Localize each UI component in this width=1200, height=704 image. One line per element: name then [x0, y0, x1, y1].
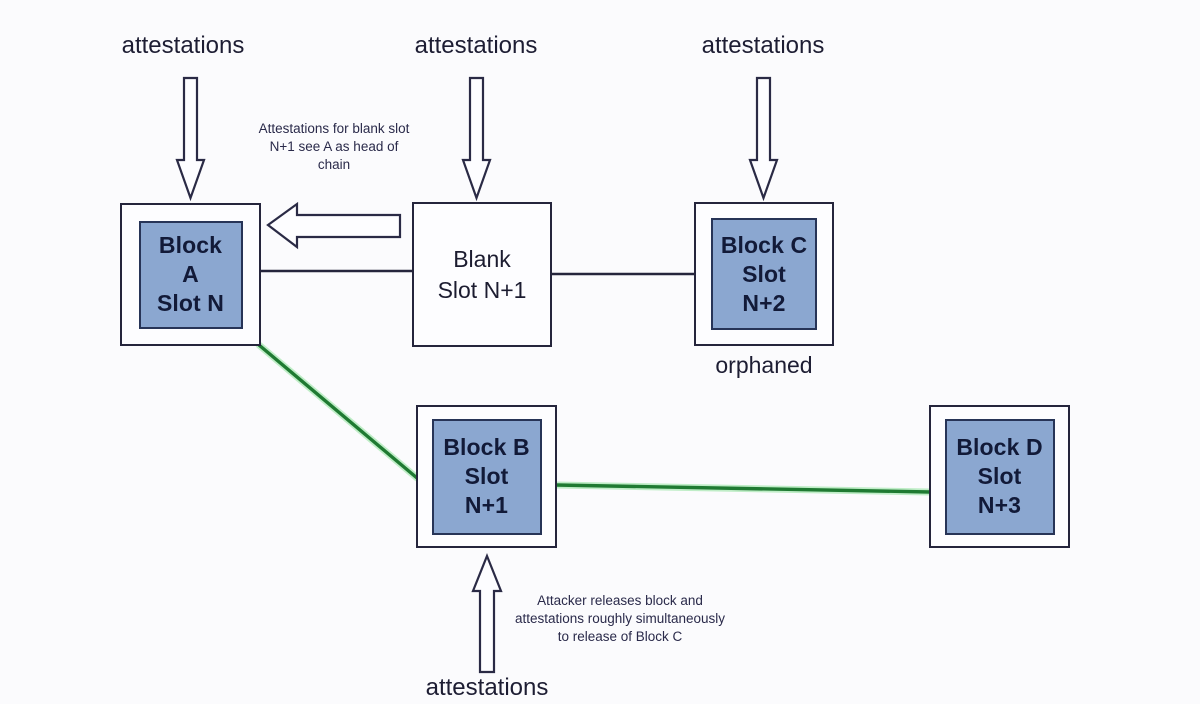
block-d-line-1: Block D [956, 433, 1042, 462]
block-blank-line-1: Blank [438, 244, 527, 275]
block-a-inner: Block A Slot N [139, 221, 243, 329]
block-c-line-3: N+2 [742, 289, 785, 318]
diagram-canvas: Block A Slot N Blank Slot N+1 Block C Sl… [0, 0, 1200, 704]
block-c-inner: Block C Slot N+2 [711, 218, 817, 330]
block-a-line-2: A [182, 260, 199, 289]
block-a-line-1: Block [159, 231, 222, 260]
block-b-line-2: Slot [465, 462, 509, 491]
block-blank-slot-label: Blank Slot N+1 [438, 244, 527, 306]
attestations-label-block-a: attestations [90, 32, 276, 60]
block-b-inner: Block B Slot N+1 [432, 419, 542, 535]
arrow-down-icon [750, 78, 777, 198]
block-b-line-1: Block B [443, 433, 529, 462]
block-b[interactable]: Block B Slot N+1 [416, 405, 557, 548]
attestations-label-block-c: attestations [670, 32, 856, 60]
arrow-down-icon [463, 78, 490, 198]
note-attacker-release: Attacker releases block and attestations… [508, 592, 732, 646]
attestations-label-block-b: attestations [394, 674, 580, 702]
note-blank-slot-head-of-chain: Attestations for blank slot N+1 see A as… [252, 120, 416, 174]
arrow-left-icon [268, 204, 400, 247]
block-b-line-3: N+1 [465, 491, 508, 520]
block-a-line-3: Slot N [157, 289, 224, 318]
block-d-line-2: Slot [978, 462, 1022, 491]
connector-a-to-b [259, 345, 417, 478]
block-blank-line-2: Slot N+1 [438, 275, 527, 306]
arrow-down-icon [177, 78, 204, 198]
block-a[interactable]: Block A Slot N [120, 203, 261, 346]
block-c[interactable]: Block C Slot N+2 [694, 202, 834, 346]
block-c-line-1: Block C [721, 231, 807, 260]
block-blank-slot[interactable]: Blank Slot N+1 [412, 202, 552, 347]
arrow-up-icon [473, 556, 501, 672]
block-d-inner: Block D Slot N+3 [945, 419, 1055, 535]
attestations-label-blank-slot: attestations [383, 32, 569, 60]
block-d[interactable]: Block D Slot N+3 [929, 405, 1070, 548]
block-d-line-3: N+3 [978, 491, 1021, 520]
block-c-line-2: Slot [742, 260, 786, 289]
orphaned-caption: orphaned [694, 352, 834, 378]
